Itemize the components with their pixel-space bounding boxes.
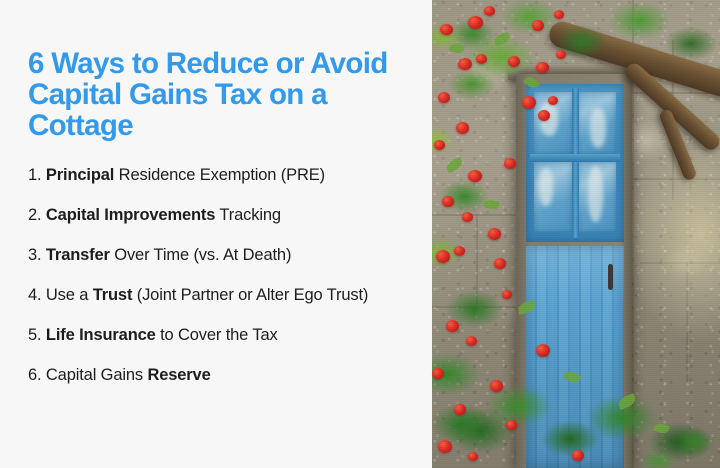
list-item-keyword: Trust <box>93 286 133 304</box>
list-item-number: 3. <box>28 246 41 264</box>
door-handle-icon <box>608 264 613 290</box>
list-item-lead: Capital Gains <box>41 366 147 384</box>
list-item: 6. Capital Gains Reserve <box>28 363 398 388</box>
list-item-text: Residence Exemption (PRE) <box>114 166 325 184</box>
list-item-number: 6. <box>28 366 41 384</box>
list-item-lead: Use a <box>41 286 92 304</box>
list-item-number: 2. <box>28 206 41 224</box>
list-item-text: Tracking <box>215 206 281 224</box>
text-panel: 6 Ways to Reduce or Avoid Capital Gains … <box>0 0 432 468</box>
list-item-keyword: Life Insurance <box>46 326 156 344</box>
list-item-keyword: Capital Improvements <box>46 206 215 224</box>
list-item: 5. Life Insurance to Cover the Tax <box>28 323 398 348</box>
infographic-card: 6 Ways to Reduce or Avoid Capital Gains … <box>0 0 720 468</box>
list-item-text: Over Time (vs. At Death) <box>110 246 291 264</box>
list-item: 1. Principal Residence Exemption (PRE) <box>28 163 398 188</box>
list-item: 4. Use a Trust (Joint Partner or Alter E… <box>28 283 398 308</box>
list-item-text: to Cover the Tax <box>156 326 278 344</box>
list-item: 3. Transfer Over Time (vs. At Death) <box>28 243 398 268</box>
list-item-keyword: Reserve <box>147 366 210 384</box>
list-item-number: 5. <box>28 326 41 344</box>
list-item-number: 1. <box>28 166 41 184</box>
tips-list: 1. Principal Residence Exemption (PRE) 2… <box>28 163 410 388</box>
list-item-number: 4. <box>28 286 41 304</box>
window-pane <box>578 92 616 154</box>
window-pane <box>578 162 616 232</box>
weeds-right <box>610 358 720 468</box>
list-item-keyword: Principal <box>46 166 114 184</box>
list-item-text: (Joint Partner or Alter Ego Trust) <box>132 286 368 304</box>
page-title: 6 Ways to Reduce or Avoid Capital Gains … <box>28 48 388 141</box>
sunlight-patch <box>624 150 720 340</box>
list-item: 2. Capital Improvements Tracking <box>28 203 398 228</box>
list-item-keyword: Transfer <box>46 246 110 264</box>
window-muntin-vertical <box>572 88 579 238</box>
cottage-photo <box>432 0 720 468</box>
